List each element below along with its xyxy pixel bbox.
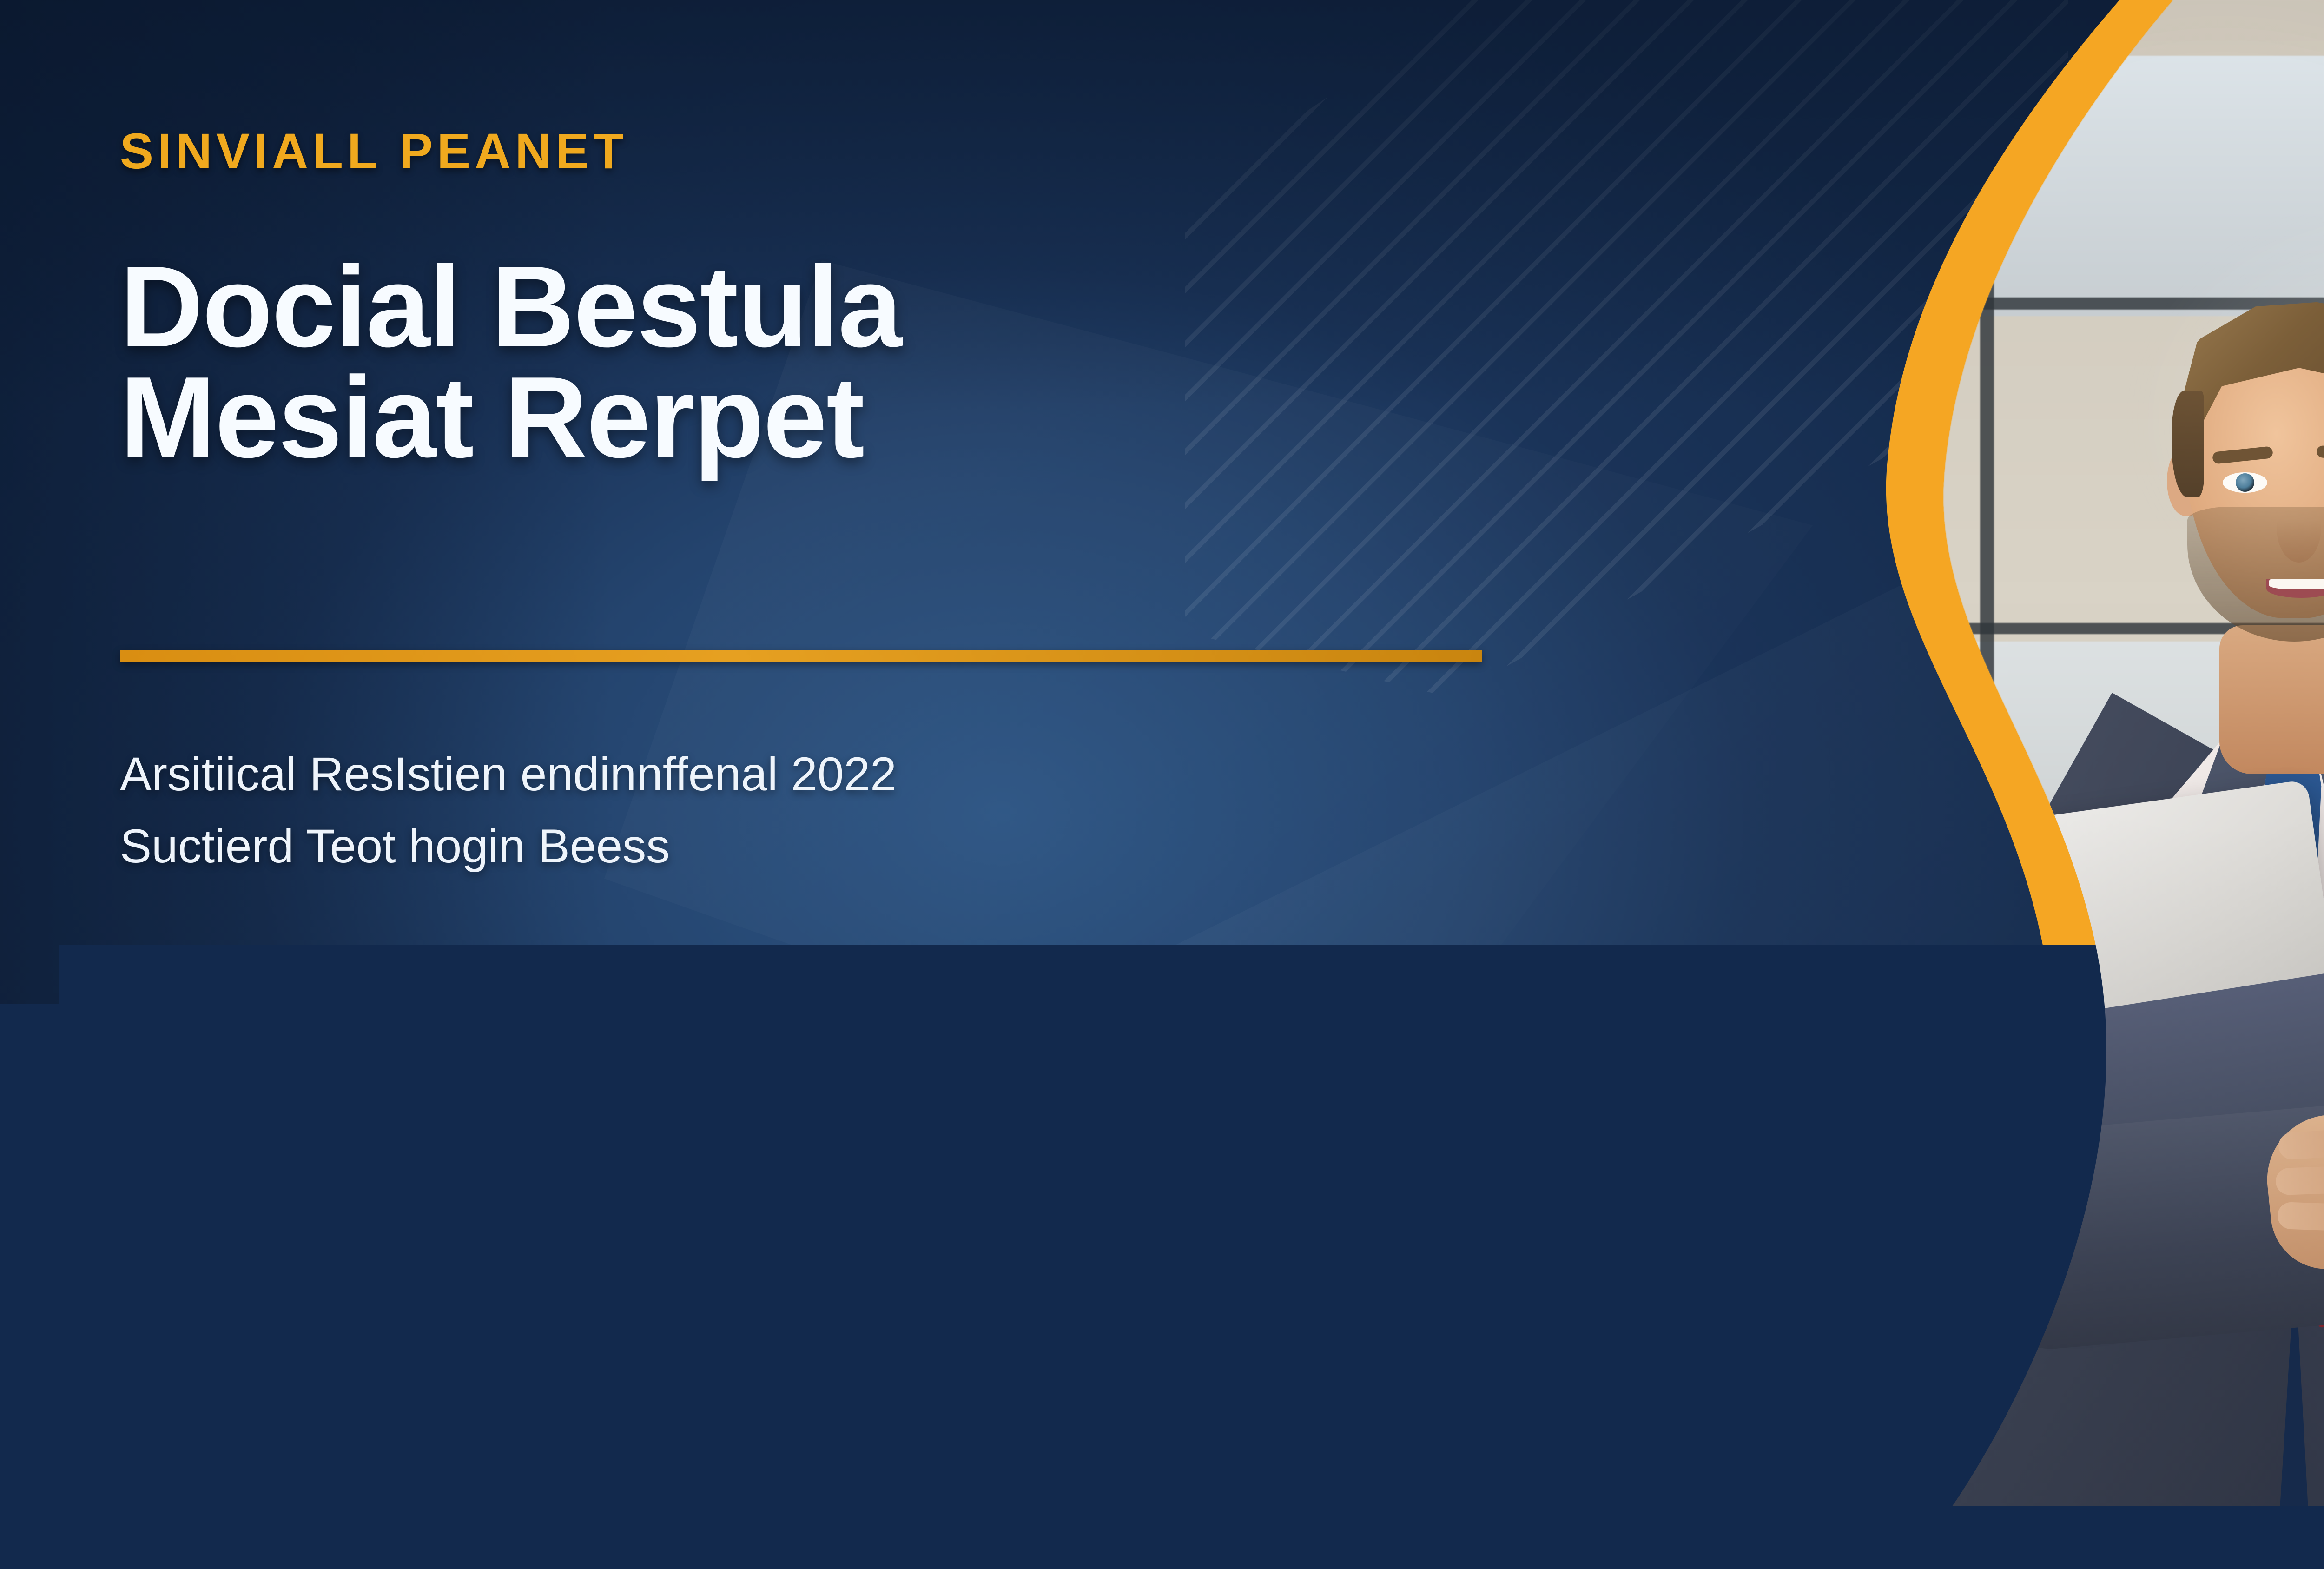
stat-value: 1207,00 3020 [1058,1190,1607,1258]
subtitle-line-2: Suctierd Teot hogin Beess [120,820,670,873]
bullet-dot-icon [989,1291,1025,1327]
stat-block-right: 1207,00 3020 For Slonsel Ponus Poplcets … [989,1190,1607,1426]
eye-left [2223,472,2267,493]
stat-value: 1007.05 820 [189,1190,738,1258]
bullet-dot-icon [989,1361,1025,1397]
neck [2219,625,2324,774]
promo-banner: SINVIALL PEANET Docial Bestula Mesiat Re… [0,0,2324,1569]
bullet-label: Dnghal Comtal Comkrs [188,1356,601,1402]
subtitle: Arsitiical ResIstien endinnffenal 2022 S… [120,738,897,882]
sign-up-button[interactable]: Sige New [120,1003,447,1132]
stat-block-left: 1007.05 820 Tas Seol Perrpt Monlert Dngh… [120,1190,738,1426]
stats-row: 1007.05 820 Tas Seol Perrpt Monlert Dngh… [120,1190,1607,1426]
gold-divider-rule [120,650,1482,662]
page-title: Docial Bestula Mesiat Rerpet [120,251,901,472]
list-item: Tas Seol Perrpt Monlert [120,1285,738,1331]
eyebrow-label: SINVIALL PEANET [120,122,628,180]
bullet-dot-icon [120,1291,156,1327]
iris-left [2236,473,2254,492]
list-item: For Slonsel Ponus Poplcets [989,1285,1607,1331]
hair-side-left [2172,391,2204,497]
bullet-label: Tas Seol Perrpt Monlert [188,1285,606,1331]
nose [2277,493,2321,563]
teeth [2269,579,2324,589]
bullet-dot-icon [120,1361,156,1397]
headline-line-1: Docial Bestula [120,242,901,371]
subtitle-line-1: Arsitiical ResIstien endinnffenal 2022 [120,748,897,801]
bullet-label: For Slonsel Ponus Poplcets [1057,1285,1548,1331]
list-item: Dnghal Comtal Comkrs [120,1356,738,1402]
list-item: Torrptisant Sumert Sepmets [989,1356,1607,1402]
bullet-label: Torrptisant Sumert Sepmets [1057,1356,1552,1402]
headline-line-2: Mesiat Rerpet [120,362,901,472]
